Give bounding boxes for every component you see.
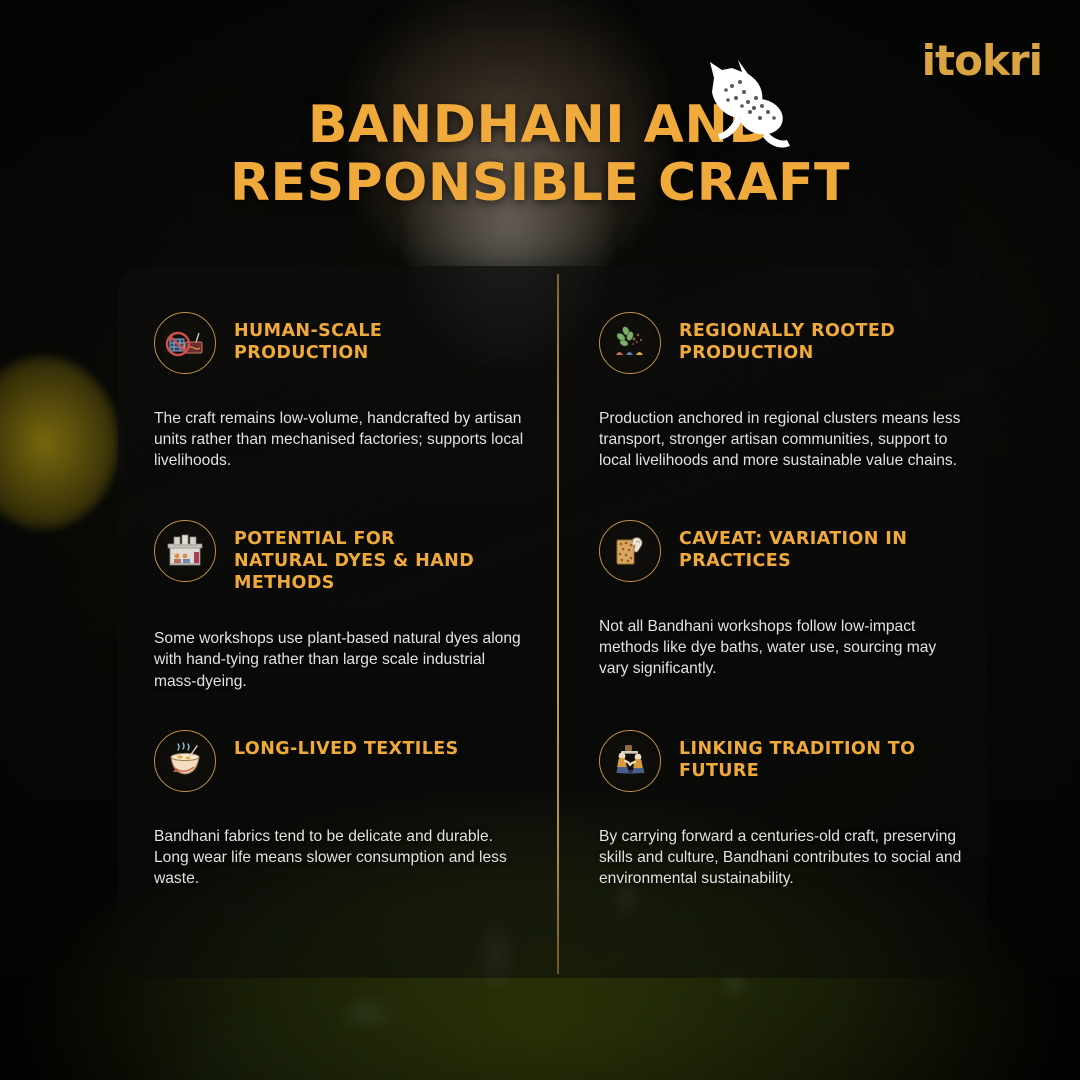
title-line-1: BANDHANI AND	[308, 95, 772, 155]
benefit-title: REGIONALLY ROOTED PRODUCTION	[679, 312, 929, 364]
artisan-workshop-building-icon	[154, 520, 216, 582]
benefit-body: Production anchored in regional clusters…	[599, 408, 968, 472]
page-title: BANDHANI AND RESPONSIBLE CRAFT	[0, 96, 1080, 212]
logo-text: itokri	[922, 36, 1042, 85]
benefit-title: LINKING TRADITION TO FUTURE	[679, 730, 929, 782]
no-factory-icon	[154, 312, 216, 374]
content-panel: HUMAN-SCALE PRODUCTION The craft remains…	[118, 266, 986, 978]
benefit-body: Bandhani fabrics tend to be delicate and…	[154, 826, 531, 890]
benefit-block-regionally-rooted-production: REGIONALLY ROOTED PRODUCTION Production …	[557, 266, 986, 474]
benefit-block-linking-tradition-future: LINKING TRADITION TO FUTURE By carrying …	[557, 684, 986, 978]
hand-holding-bandhani-fabric-icon	[599, 520, 661, 582]
benefit-title: CAVEAT: VARIATION IN PRACTICES	[679, 520, 929, 572]
benefits-grid: HUMAN-SCALE PRODUCTION The craft remains…	[118, 266, 986, 978]
itokri-logo[interactable]: itokri	[922, 40, 1042, 82]
benefit-title: LONG-LIVED TEXTILES	[234, 730, 459, 760]
benefit-body: Not all Bandhani workshops follow low-im…	[599, 616, 968, 680]
benefit-body: The craft remains low-volume, handcrafte…	[154, 408, 531, 472]
benefit-body: Some workshops use plant-based natural d…	[154, 628, 531, 692]
benefit-block-long-lived-textiles: LONG-LIVED TEXTILES Bandhani fabrics ten…	[118, 684, 557, 978]
benefit-block-natural-dyes-hand-methods: POTENTIAL FOR NATURAL DYES & HAND METHOD…	[118, 474, 557, 684]
benefit-title: HUMAN-SCALE PRODUCTION	[234, 312, 494, 364]
benefit-body: By carrying forward a centuries-old craf…	[599, 826, 968, 890]
benefit-block-caveat-variation: CAVEAT: VARIATION IN PRACTICES Not all B…	[557, 474, 986, 684]
steaming-dye-pot-icon	[154, 730, 216, 792]
benefit-title: POTENTIAL FOR NATURAL DYES & HAND METHOD…	[234, 520, 494, 594]
two-artisans-icon	[599, 730, 661, 792]
leaves-and-dye-powders-icon	[599, 312, 661, 374]
benefit-block-human-scale-production: HUMAN-SCALE PRODUCTION The craft remains…	[118, 266, 557, 474]
title-line-2: RESPONSIBLE CRAFT	[230, 153, 850, 213]
